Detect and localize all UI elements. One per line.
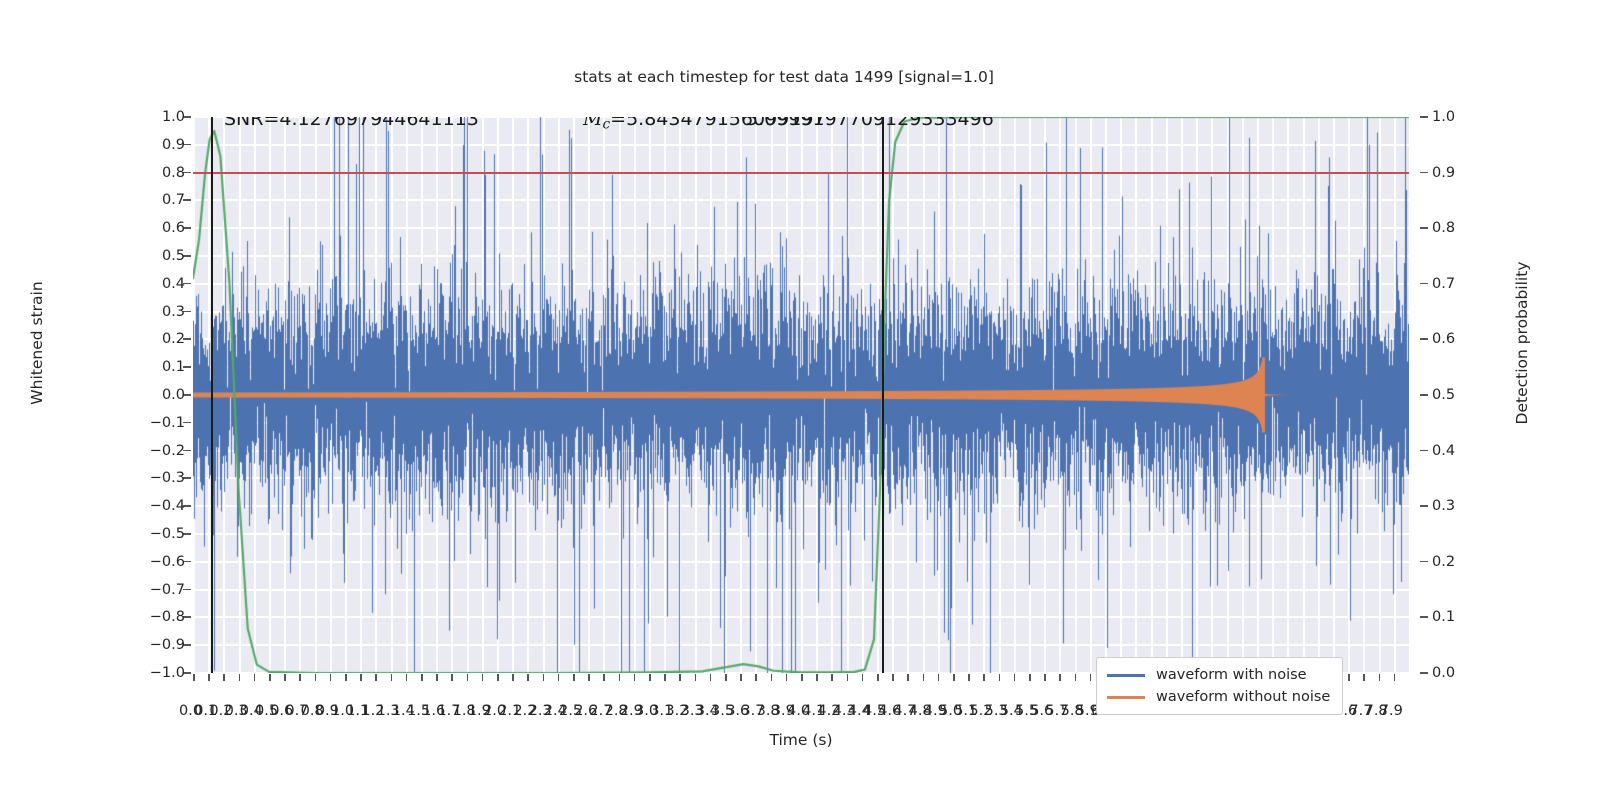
detection-probability-series xyxy=(193,117,1409,673)
snr-prefix: SNR= xyxy=(224,117,279,130)
x-axis-tick-mark xyxy=(1090,674,1092,681)
y-axis-left-tick-label: 0.2 xyxy=(162,332,185,347)
x-axis-tick-mark xyxy=(816,674,818,681)
chirp-mass-subscript: c xyxy=(602,117,610,132)
x-axis-tick-mark xyxy=(634,674,636,681)
merger-time-annotation: 5.0999197709129333496 xyxy=(746,117,994,130)
x-axis-tick-mark xyxy=(847,674,849,681)
snr-value: 4.127697944641113 xyxy=(279,117,478,130)
y-axis-left-tick-label: 0.4 xyxy=(162,277,185,292)
y-axis-right-tick-label: 0.6 xyxy=(1432,332,1455,347)
x-axis-tick-mark xyxy=(284,674,286,681)
x-axis-tick-mark xyxy=(968,674,970,681)
x-axis-tick-mark xyxy=(679,674,681,681)
x-axis-tick-mark xyxy=(1075,674,1077,681)
y-axis-right-tick-label: 1.0 xyxy=(1432,110,1455,125)
legend: waveform with noisewaveform without nois… xyxy=(1096,657,1343,715)
x-axis-tick-mark xyxy=(831,674,833,681)
x-axis-tick-mark xyxy=(786,674,788,681)
y-axis-right-tick-label: 0.3 xyxy=(1432,499,1455,514)
chart-title: stats at each timestep for test data 149… xyxy=(0,68,1600,86)
y-axis-right-tick-mark xyxy=(1420,616,1428,618)
x-axis-tick-mark xyxy=(330,674,332,681)
x-axis-tick-mark xyxy=(299,674,301,681)
y-axis-right-tick-mark xyxy=(1420,338,1428,340)
x-axis-tick-mark xyxy=(983,674,985,681)
x-axis-tick-mark xyxy=(588,674,590,681)
y-axis-left-tick-label: −0.6 xyxy=(150,555,185,570)
y-axis-right-tick-label: 0.0 xyxy=(1432,666,1455,681)
x-axis-tick-mark xyxy=(345,674,347,681)
snr-annotation: SNR=4.127697944641113 xyxy=(224,117,479,130)
x-axis-tick-label: 7.9 xyxy=(1380,704,1403,719)
x-axis-tick-mark xyxy=(771,674,773,681)
y-axis-left-tick-label: 0.6 xyxy=(162,221,185,236)
x-axis-tick-mark xyxy=(527,674,529,681)
y-axis-right-tick-label: 0.5 xyxy=(1432,388,1455,403)
x-axis-tick-mark xyxy=(923,674,925,681)
y-axis-right-tick-mark xyxy=(1420,394,1428,396)
x-axis-tick-mark xyxy=(1348,674,1350,681)
y-axis-left-tick-label: −0.7 xyxy=(150,583,185,598)
x-axis-tick-mark xyxy=(695,674,697,681)
y-axis-left-tick-label: −0.8 xyxy=(150,610,185,625)
chart-title-text: stats at each timestep for test data 149… xyxy=(574,68,994,86)
x-axis-tick-mark xyxy=(482,674,484,681)
y-axis-left-tick-label: 0.5 xyxy=(162,249,185,264)
legend-item-label: waveform with noise xyxy=(1156,667,1307,683)
y-axis-right-tick-label: 0.2 xyxy=(1432,555,1455,570)
x-axis-tick-mark xyxy=(755,674,757,681)
x-axis-tick-mark xyxy=(406,674,408,681)
x-axis-tick-mark xyxy=(619,674,621,681)
y-axis-right-tick-mark xyxy=(1420,450,1428,452)
signal-start-marker xyxy=(211,117,213,673)
legend-color-swatch xyxy=(1107,696,1145,699)
y-axis-left-tick-label: 0.0 xyxy=(162,388,185,403)
y-axis-left-tick-label: −0.4 xyxy=(150,499,185,514)
y-axis-right-tick-mark xyxy=(1420,561,1428,563)
x-axis-tick-mark xyxy=(239,674,241,681)
y-axis-right-tick-mark xyxy=(1420,172,1428,174)
y-axis-left-tick-label: −0.3 xyxy=(150,471,185,486)
x-axis-tick-mark xyxy=(999,674,1001,681)
y-axis-right-tick-label: 0.8 xyxy=(1432,221,1455,236)
legend-color-swatch xyxy=(1107,674,1145,677)
y-axis-left-tick-label: −1.0 xyxy=(150,666,185,681)
x-axis-tick-mark xyxy=(1059,674,1061,681)
x-axis-tick-mark xyxy=(436,674,438,681)
x-axis-tick-mark xyxy=(208,674,210,681)
x-axis-tick-mark xyxy=(497,674,499,681)
x-axis-tick-mark xyxy=(254,674,256,681)
x-axis-tick-mark xyxy=(315,674,317,681)
x-axis-tick-mark xyxy=(740,674,742,681)
plot-area: SNR=4.127697944641113 Mc=5.8434791560991… xyxy=(193,117,1409,673)
x-axis-tick-mark xyxy=(664,674,666,681)
y-axis-right-tick-label: 0.9 xyxy=(1432,166,1455,181)
x-axis-tick-mark xyxy=(467,674,469,681)
x-axis-tick-mark xyxy=(375,674,377,681)
x-axis-tick-mark xyxy=(1044,674,1046,681)
x-axis-tick-mark xyxy=(421,674,423,681)
x-axis-tick-mark xyxy=(1394,674,1396,681)
legend-item-label: waveform without noise xyxy=(1156,689,1330,705)
y-axis-right-tick-mark xyxy=(1420,116,1428,118)
y-axis-left-tick-label: −0.2 xyxy=(150,444,185,459)
y-axis-left-tick-label: 0.1 xyxy=(162,360,185,375)
x-axis-tick-mark xyxy=(558,674,560,681)
legend-item[interactable]: waveform with noise xyxy=(1107,664,1330,686)
x-axis-tick-mark xyxy=(1363,674,1365,681)
x-axis-tick-mark xyxy=(573,674,575,681)
x-axis-tick-mark xyxy=(892,674,894,681)
x-axis-tick-mark xyxy=(801,674,803,681)
y-axis-right-tick-mark xyxy=(1420,283,1428,285)
x-axis-tick-mark xyxy=(953,674,955,681)
x-axis-tick-mark xyxy=(938,674,940,681)
y-axis-left-tick-label: 0.3 xyxy=(162,305,185,320)
x-axis-tick-mark xyxy=(862,674,864,681)
x-axis-tick-mark xyxy=(907,674,909,681)
x-axis-tick-mark xyxy=(725,674,727,681)
signal-end-marker xyxy=(882,117,884,673)
x-axis-tick-mark xyxy=(1029,674,1031,681)
x-axis-tick-mark xyxy=(1379,674,1381,681)
y-axis-right-tick-label: 0.4 xyxy=(1432,444,1455,459)
y-axis-left-label: Whitened strain xyxy=(28,213,46,473)
x-axis-tick-mark xyxy=(543,674,545,681)
y-axis-left-tick-label: 1.0 xyxy=(162,110,185,125)
x-axis-label: Time (s) xyxy=(193,731,1409,749)
y-axis-right-tick-label: 0.1 xyxy=(1432,610,1455,625)
x-axis-tick-mark xyxy=(360,674,362,681)
x-axis-tick-mark xyxy=(649,674,651,681)
chirp-mass-symbol: M xyxy=(583,117,602,130)
y-axis-left-tick-label: −0.5 xyxy=(150,527,185,542)
y-axis-right-tick-mark xyxy=(1420,227,1428,229)
y-axis-left-tick-label: 0.9 xyxy=(162,138,185,153)
y-axis-right-tick-mark xyxy=(1420,672,1428,674)
x-axis-tick-mark xyxy=(512,674,514,681)
x-axis-tick-mark xyxy=(193,674,195,681)
y-axis-left-tick-label: −0.1 xyxy=(150,416,185,431)
x-axis-tick-mark xyxy=(451,674,453,681)
detection-threshold-line xyxy=(193,172,1409,174)
y-axis-left-tick-label: 0.8 xyxy=(162,166,185,181)
x-axis-tick-mark xyxy=(603,674,605,681)
legend-item[interactable]: waveform without noise xyxy=(1107,686,1330,708)
y-axis-left-tick-label: 0.7 xyxy=(162,193,185,208)
chirp-mass-equals: = xyxy=(610,117,626,130)
figure: stats at each timestep for test data 149… xyxy=(0,0,1600,800)
y-axis-right-tick-mark xyxy=(1420,505,1428,507)
x-axis-tick-mark xyxy=(710,674,712,681)
x-axis-tick-mark xyxy=(269,674,271,681)
x-axis-tick-mark xyxy=(223,674,225,681)
y-axis-right-tick-label: 0.7 xyxy=(1432,277,1455,292)
y-axis-right-label: Detection probability xyxy=(1513,213,1531,473)
x-axis-tick-mark xyxy=(877,674,879,681)
y-axis-left-tick-label: −0.9 xyxy=(150,638,185,653)
x-axis-tick-mark xyxy=(391,674,393,681)
x-axis-tick-mark xyxy=(1014,674,1016,681)
